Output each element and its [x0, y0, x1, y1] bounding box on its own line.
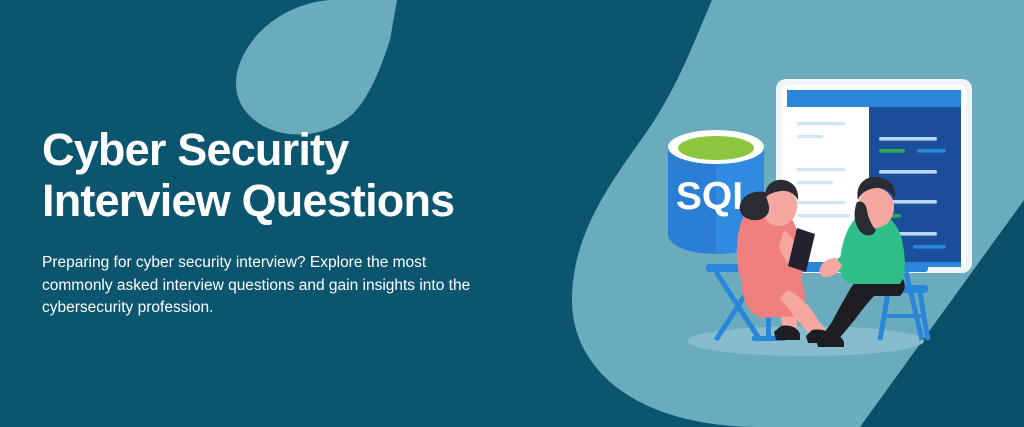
monitor-titlebar: [787, 90, 961, 107]
page-title-line-2: Interview Questions: [42, 175, 512, 226]
page-title: Cyber Security Interview Questions: [42, 124, 512, 226]
page-subtitle: Preparing for cyber security interview? …: [42, 252, 482, 320]
cyber-security-interview-banner: SQL: [0, 0, 1024, 427]
banner-text-block: Cyber Security Interview Questions Prepa…: [42, 124, 512, 320]
page-title-line-1: Cyber Security: [42, 124, 512, 175]
database-top-green: [678, 136, 754, 160]
